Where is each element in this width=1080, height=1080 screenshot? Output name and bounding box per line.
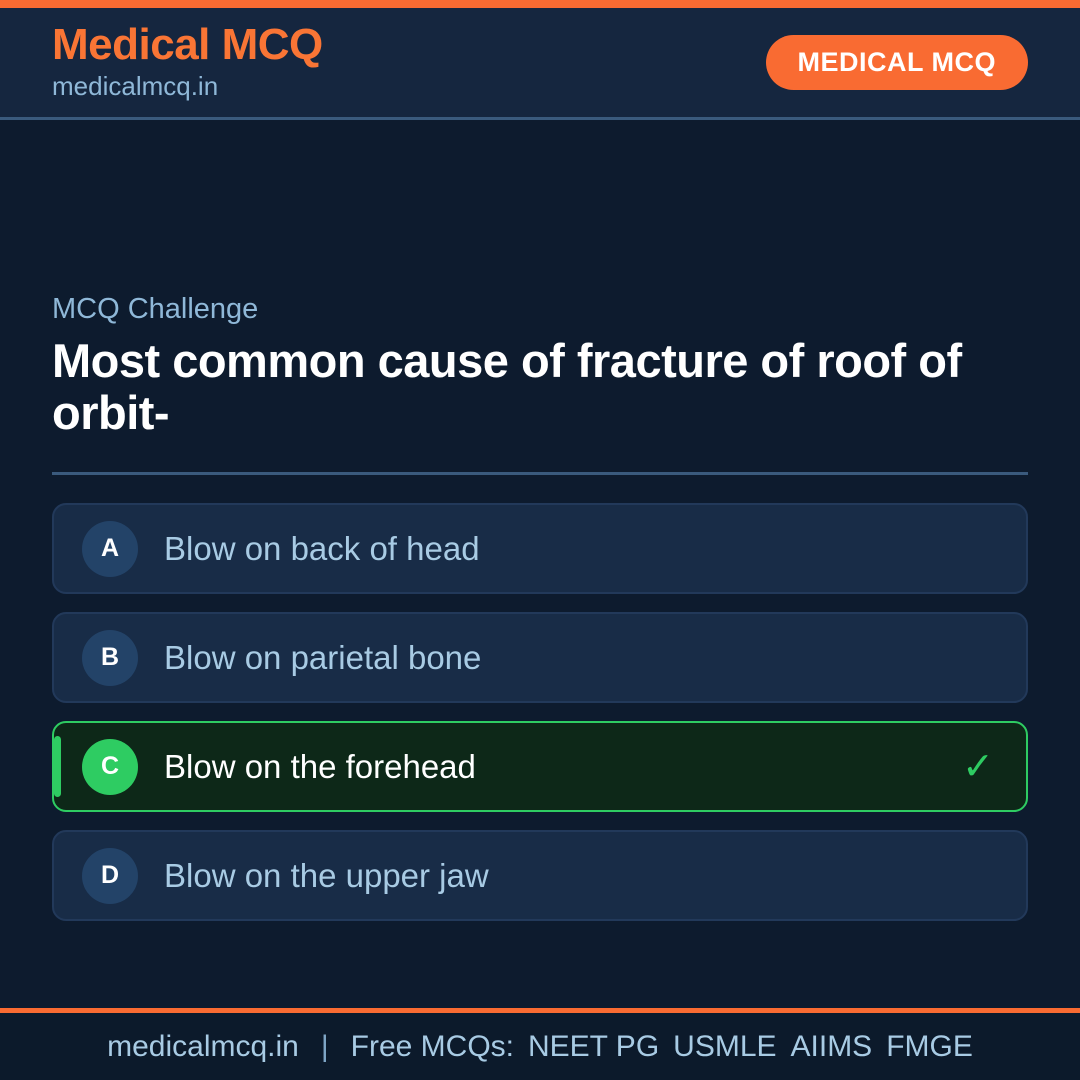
option-letter-badge: A [82, 521, 138, 577]
brand-subtitle: medicalmcq.in [52, 70, 323, 104]
option-c[interactable]: C Blow on the forehead ✓ [52, 721, 1028, 812]
header-badge: MEDICAL MCQ [766, 35, 1029, 90]
option-label: Blow on parietal bone [164, 638, 962, 678]
footer-exam-aiims[interactable]: AIIMS [791, 1030, 873, 1064]
footer-text: medicalmcq.in | Free MCQs: NEET PG USMLE… [107, 1030, 973, 1064]
page-header: Medical MCQ medicalmcq.in MEDICAL MCQ [0, 8, 1080, 120]
footer-label: Free MCQs: [351, 1030, 514, 1064]
option-label: Blow on the upper jaw [164, 856, 962, 896]
options-list: A Blow on back of head ✓ B Blow on parie… [52, 503, 1028, 921]
footer-exam-usmle[interactable]: USMLE [673, 1030, 776, 1064]
option-letter-badge: B [82, 630, 138, 686]
option-letter-badge: C [82, 739, 138, 795]
question-block: MCQ Challenge Most common cause of fract… [52, 292, 1028, 475]
page-footer: medicalmcq.in | Free MCQs: NEET PG USMLE… [0, 1008, 1080, 1080]
option-a[interactable]: A Blow on back of head ✓ [52, 503, 1028, 594]
option-letter-badge: D [82, 848, 138, 904]
eyebrow-label: MCQ Challenge [52, 292, 1028, 327]
option-label: Blow on back of head [164, 529, 962, 569]
option-d[interactable]: D Blow on the upper jaw ✓ [52, 830, 1028, 921]
brand-block: Medical MCQ medicalmcq.in [52, 22, 323, 104]
question-text: Most common cause of fracture of roof of… [52, 335, 1002, 440]
main-content: MCQ Challenge Most common cause of fract… [0, 120, 1080, 1008]
correct-accent-bar [54, 736, 61, 797]
option-b[interactable]: B Blow on parietal bone ✓ [52, 612, 1028, 703]
footer-exam-neet-pg[interactable]: NEET PG [528, 1030, 659, 1064]
option-label: Blow on the forehead [164, 747, 962, 787]
check-icon: ✓ [962, 748, 994, 786]
top-accent-bar [0, 0, 1080, 8]
footer-site[interactable]: medicalmcq.in [107, 1030, 299, 1064]
question-divider [52, 472, 1028, 475]
brand-title: Medical MCQ [52, 22, 323, 68]
footer-exam-fmge[interactable]: FMGE [886, 1030, 973, 1064]
footer-separator: | [321, 1030, 329, 1064]
mcq-card: Medical MCQ medicalmcq.in MEDICAL MCQ MC… [0, 0, 1080, 1080]
